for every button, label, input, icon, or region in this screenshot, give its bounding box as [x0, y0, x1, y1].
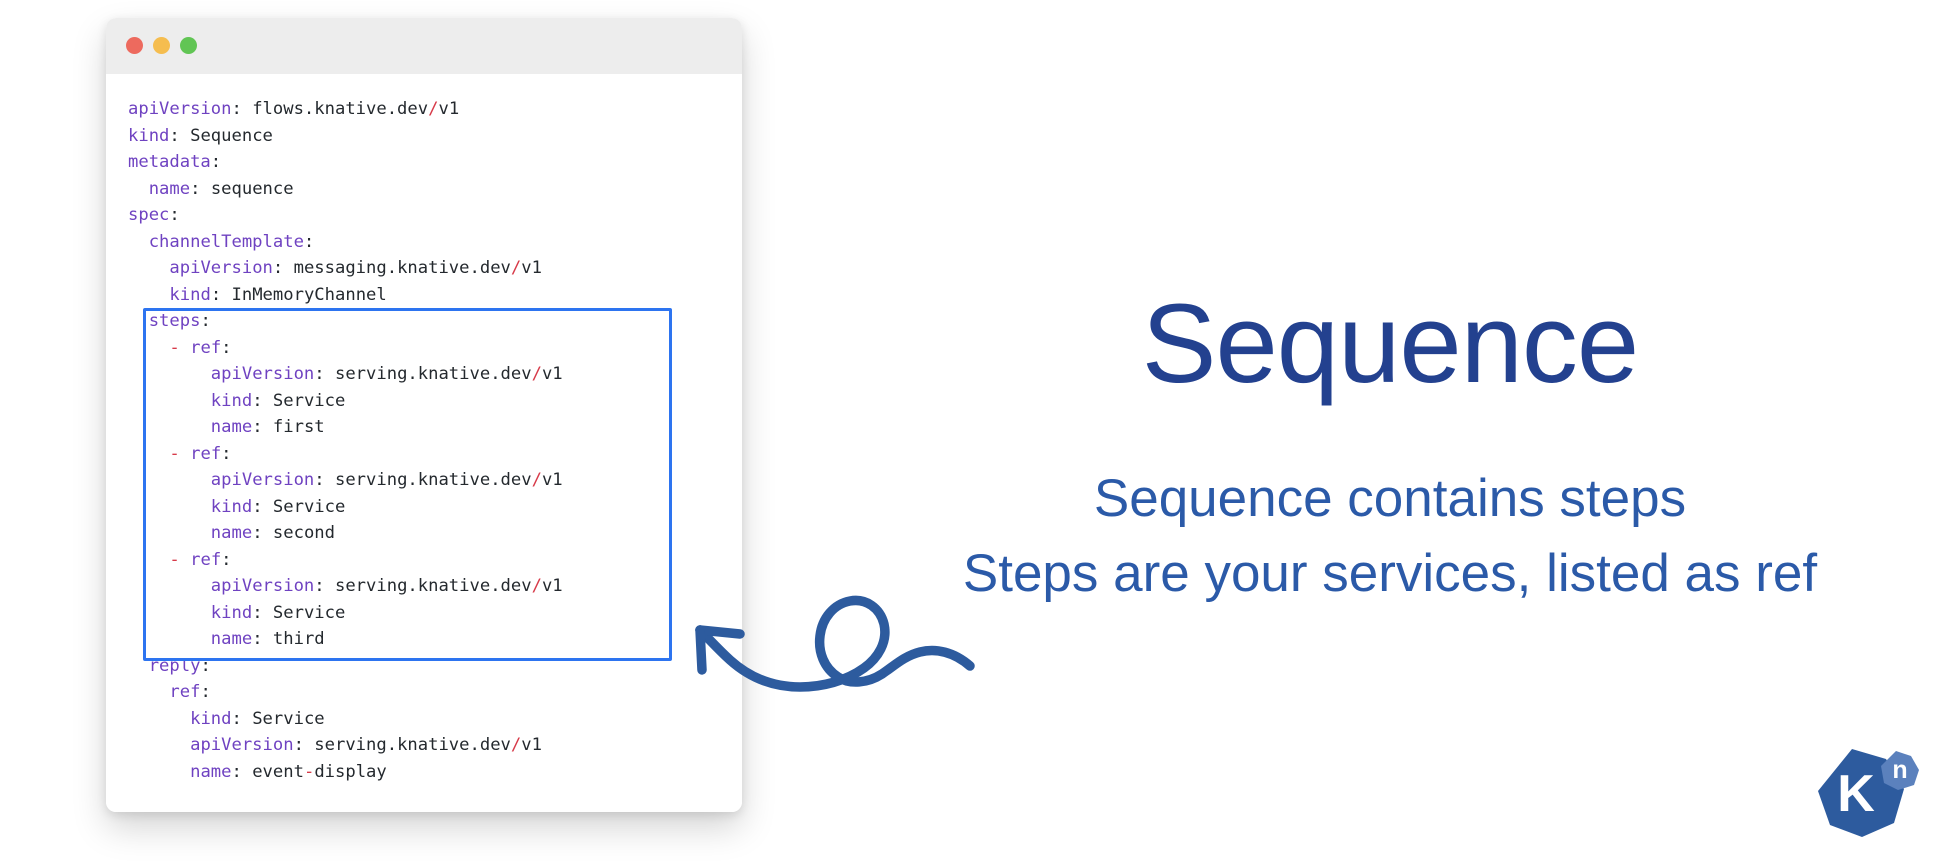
knative-logo: K n — [1812, 745, 1922, 845]
code-line: kind: Sequence — [128, 123, 563, 150]
code-line: - ref: — [128, 441, 563, 468]
code-line: kind: Service — [128, 600, 563, 627]
right-content-column: Sequence Sequence contains steps Steps a… — [820, 0, 1960, 862]
code-line: name: sequence — [128, 176, 563, 203]
code-line: apiVersion: serving.knative.dev/v1 — [128, 361, 563, 388]
code-line: name: event-display — [128, 759, 563, 786]
code-line: - ref: — [128, 547, 563, 574]
code-line: apiVersion: serving.knative.dev/v1 — [128, 573, 563, 600]
code-line: kind: Service — [128, 706, 563, 733]
code-line: kind: Service — [128, 388, 563, 415]
code-line: kind: Service — [128, 494, 563, 521]
minimize-window-button[interactable] — [153, 37, 170, 54]
knative-logo-letter-n: n — [1892, 756, 1907, 784]
maximize-window-button[interactable] — [180, 37, 197, 54]
subtitle-line-2: Steps are your services, listed as ref — [820, 543, 1960, 605]
code-line: metadata: — [128, 149, 563, 176]
code-line: spec: — [128, 202, 563, 229]
slide-canvas: apiVersion: flows.knative.dev/v1kind: Se… — [0, 0, 1960, 862]
code-line: channelTemplate: — [128, 229, 563, 256]
code-editor-body[interactable]: apiVersion: flows.knative.dev/v1kind: Se… — [106, 74, 742, 812]
code-line: apiVersion: flows.knative.dev/v1 — [128, 96, 563, 123]
code-line: name: first — [128, 414, 563, 441]
code-window: apiVersion: flows.knative.dev/v1kind: Se… — [106, 18, 742, 812]
code-line: name: third — [128, 626, 563, 653]
code-line: apiVersion: serving.knative.dev/v1 — [128, 467, 563, 494]
yaml-code-block[interactable]: apiVersion: flows.knative.dev/v1kind: Se… — [128, 96, 563, 785]
knative-logo-letter-k: K — [1837, 765, 1875, 823]
code-line: reply: — [128, 653, 563, 680]
subtitle-line-1: Sequence contains steps — [820, 468, 1960, 530]
page-title: Sequence — [820, 288, 1960, 400]
code-line: name: second — [128, 520, 563, 547]
code-line: apiVersion: serving.knative.dev/v1 — [128, 732, 563, 759]
code-line: apiVersion: messaging.knative.dev/v1 — [128, 255, 563, 282]
code-line: ref: — [128, 679, 563, 706]
close-window-button[interactable] — [126, 37, 143, 54]
code-line: kind: InMemoryChannel — [128, 282, 563, 309]
code-line: steps: — [128, 308, 563, 335]
code-line: - ref: — [128, 335, 563, 362]
window-titlebar[interactable] — [106, 18, 742, 74]
